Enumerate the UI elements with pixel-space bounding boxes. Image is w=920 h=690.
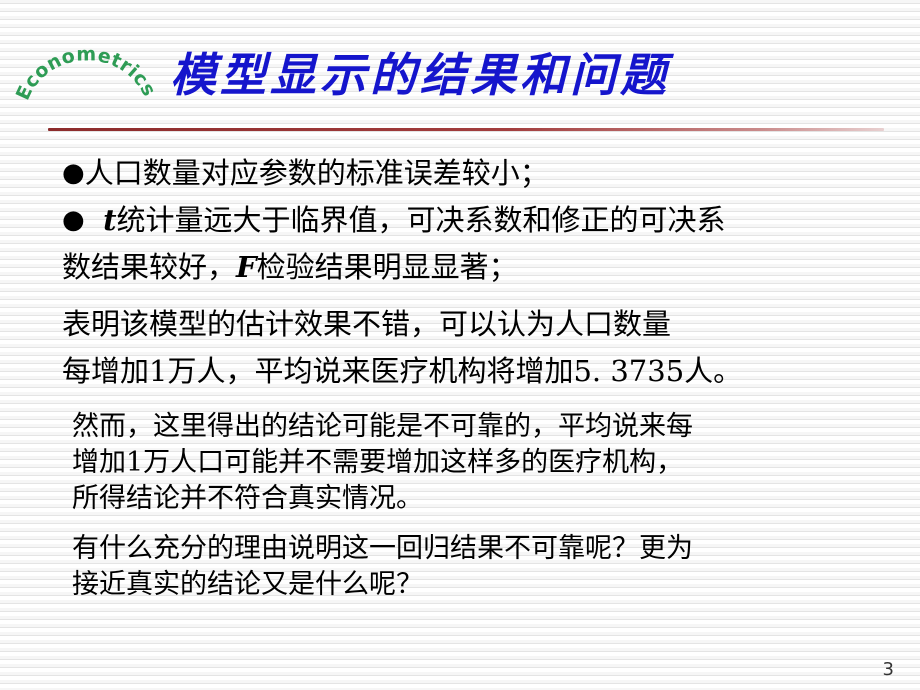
- bullet-item-2-cont-text-a: 数结果较好，: [62, 250, 236, 284]
- question-paragraph: 有什么充分的理由说明这一回归结果不可靠呢？更为 接近真实的结论又是什么呢？: [0, 531, 920, 603]
- bullet-item-2-text: 统计量远大于临界值，可决系数和修正的可决系: [117, 203, 726, 237]
- bullet-item-1-text: 人口数量对应参数的标准误差较小；: [85, 156, 549, 190]
- page-number: 3: [883, 659, 894, 680]
- bullet-dot-icon: ●: [62, 158, 85, 188]
- econometrics-logo: Econometrics: [14, 22, 164, 112]
- conclusion-line-2: 每增加1万人，平均说来医疗机构将增加5. 3735人。: [0, 348, 920, 395]
- question-line-1: 有什么充分的理由说明这一回归结果不可靠呢？更为: [0, 531, 920, 567]
- bullet-item-1: ●人口数量对应参数的标准误差较小；: [0, 150, 920, 197]
- f-statistic-symbol: F: [236, 250, 257, 284]
- caveat-paragraph: 然而，这里得出的结论可能是不可靠的，平均说来每 增加1万人口可能并不需要增加这样…: [0, 409, 920, 517]
- caveat-line-3: 所得结论并不符合真实情况。: [0, 481, 920, 517]
- conclusion-line-1: 表明该模型的估计效果不错，可以认为人口数量: [0, 301, 920, 348]
- bullet-item-2: ● t统计量远大于临界值，可决系数和修正的可决系: [0, 197, 920, 244]
- caveat-line-1: 然而，这里得出的结论可能是不可靠的，平均说来每: [0, 409, 920, 445]
- logo-text: Econometrics: [14, 43, 160, 103]
- bullet-item-2-cont: 数结果较好，F检验结果明显显著；: [0, 244, 920, 291]
- t-statistic-symbol: t: [103, 203, 116, 237]
- slide-body: ●人口数量对应参数的标准误差较小； ● t统计量远大于临界值，可决系数和修正的可…: [0, 150, 920, 603]
- spacer: [0, 291, 920, 301]
- question-line-2: 接近真实的结论又是什么呢？: [0, 567, 920, 603]
- slide-canvas: Econometrics 模型显示的结果和问题 ●人口数量对应参数的标准误差较小…: [0, 0, 920, 690]
- caveat-line-2: 增加1万人口可能并不需要增加这样多的医疗机构，: [0, 445, 920, 481]
- spacer: [0, 395, 920, 409]
- bullet-dot-icon: ●: [62, 205, 85, 235]
- title-divider: [48, 128, 884, 131]
- spacer: [0, 517, 920, 531]
- bullet-list-block: ●人口数量对应参数的标准误差较小； ● t统计量远大于临界值，可决系数和修正的可…: [0, 150, 920, 395]
- bullet-item-2-cont-text-b: 检验结果明显显著；: [257, 250, 518, 284]
- page-title: 模型显示的结果和问题: [170, 47, 770, 103]
